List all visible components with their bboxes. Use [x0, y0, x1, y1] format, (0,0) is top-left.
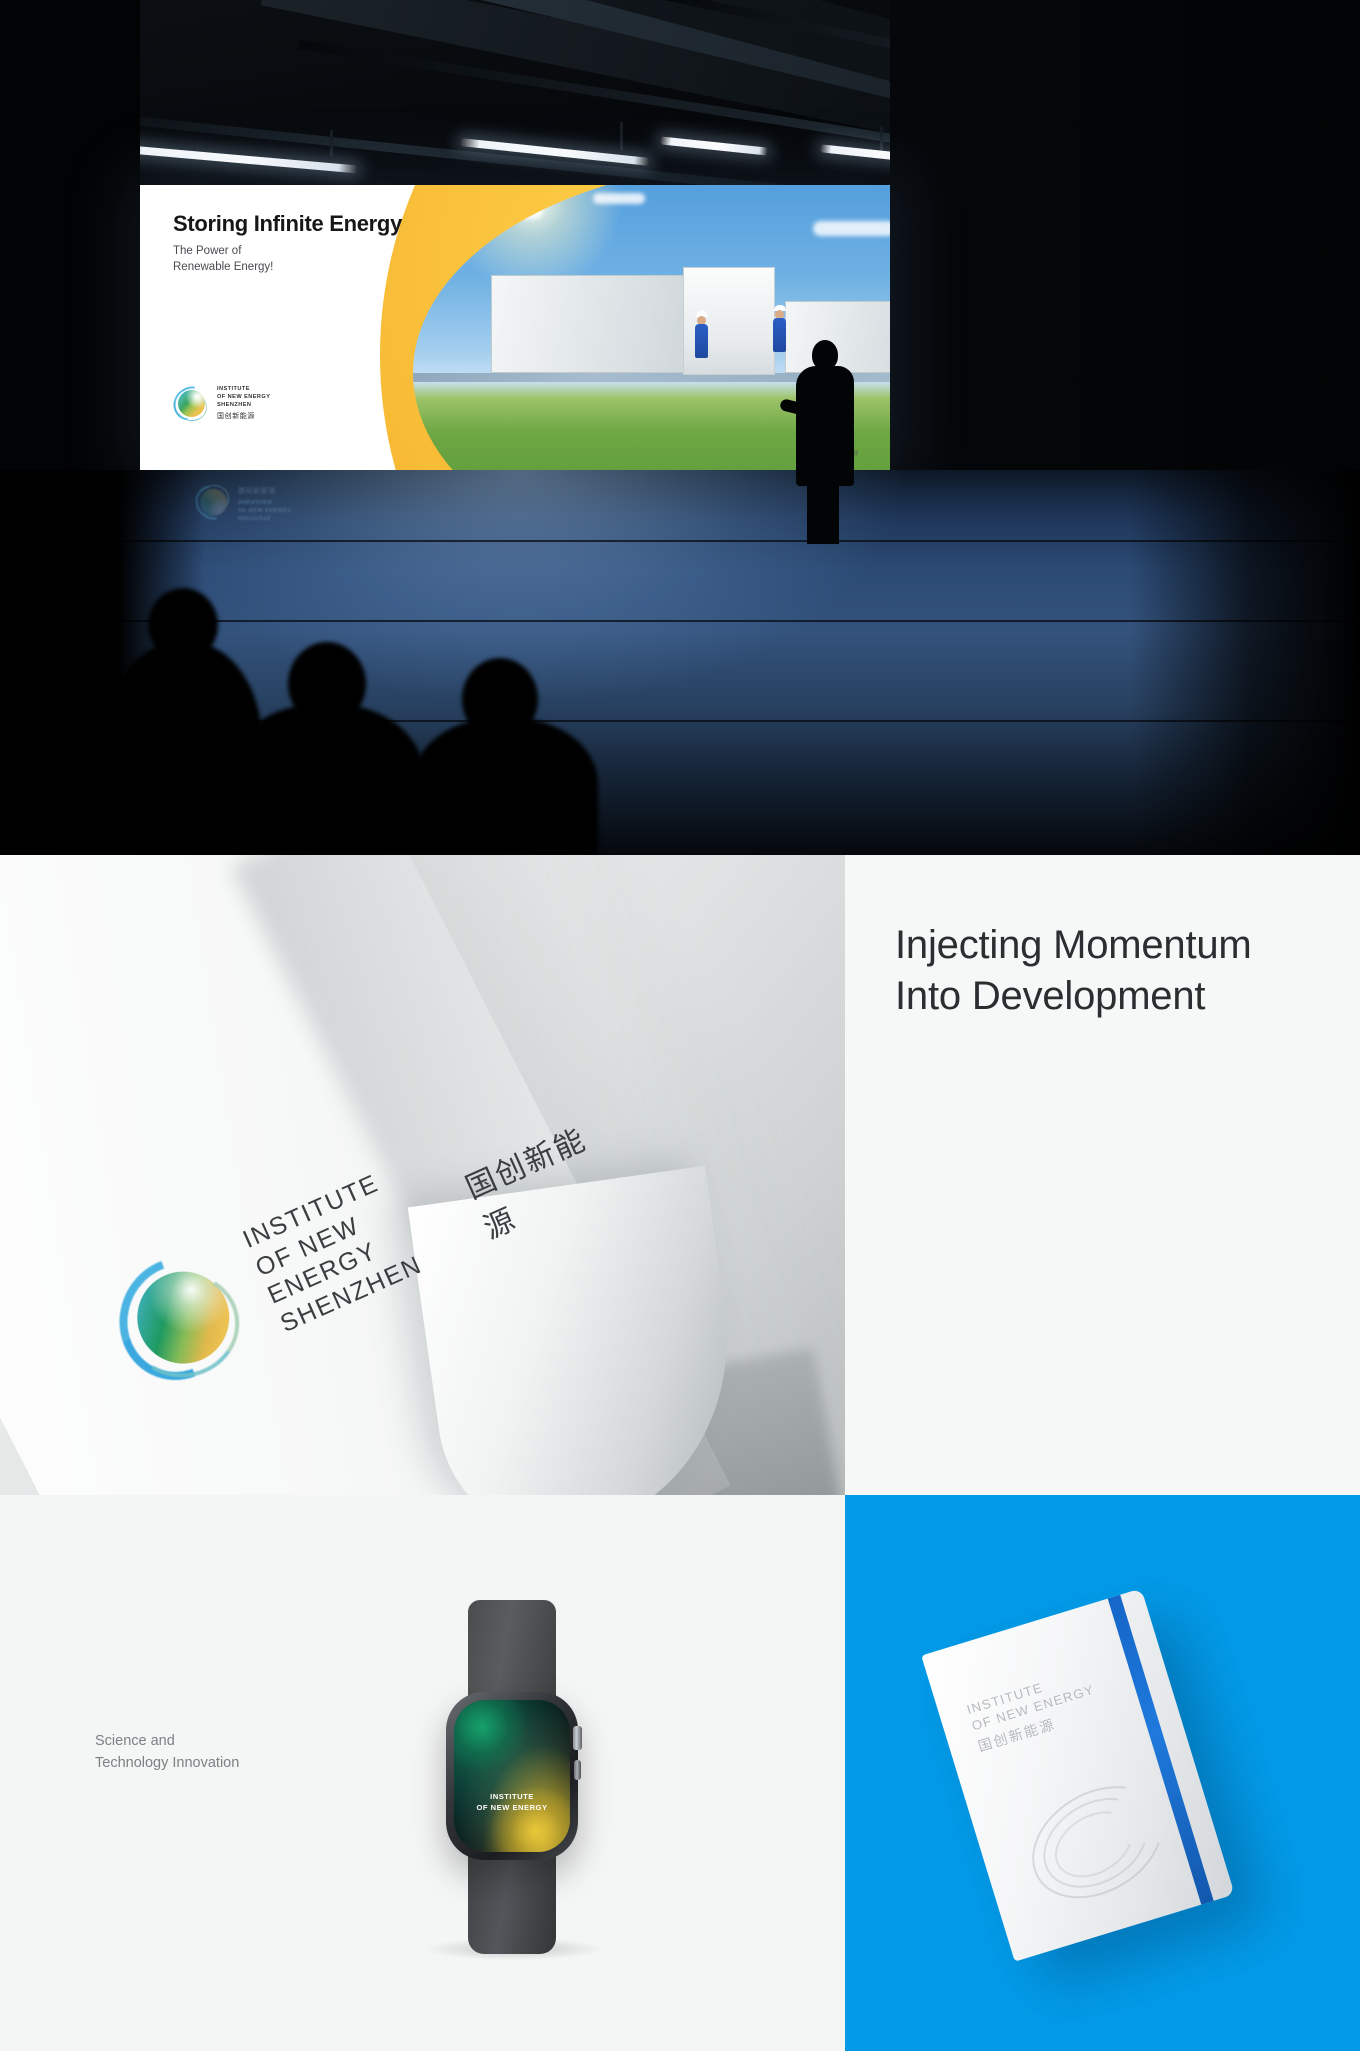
floor-right-shadow — [1130, 470, 1360, 855]
ceiling-light-icon — [118, 145, 358, 174]
audience-silhouette — [228, 704, 424, 855]
slogan-headline: Injecting Momentum Into Development — [895, 920, 1325, 1022]
led-screen-slide: Storing Infinite Energy The Power of Ren… — [140, 185, 890, 470]
lamp-stem — [880, 126, 883, 152]
cloud — [593, 193, 645, 204]
paper-logo-mockup: INSTITUTE OF NEW ENERGY SHENZHEN 国创新能源 — [0, 855, 845, 1495]
smartwatch: INSTITUTE OF NEW ENERGY — [432, 1600, 592, 1950]
notebook-mockup-panel: INSTITUTE OF NEW ENERGY 国创新能源 — [845, 1495, 1360, 2051]
notebook-emboss-wordmark: INSTITUTE OF NEW ENERGY 国创新能源 — [965, 1666, 1103, 1756]
watch-crown-icon — [573, 1726, 582, 1750]
watch-face-line2: OF NEW ENERGY — [454, 1803, 570, 1814]
watch-case: INSTITUTE OF NEW ENERGY — [446, 1692, 578, 1860]
stage-floor: INSTITUTE OF NEW ENERGY SHENZHEN 国创新能源 — [0, 470, 1360, 855]
logo-line-shenzhen: SHENZHEN — [217, 402, 270, 410]
lamp-stem — [330, 130, 333, 156]
middle-section: INSTITUTE OF NEW ENERGY SHENZHEN 国创新能源 I… — [0, 855, 1360, 1495]
reflected-logo-line2: OF NEW ENERGY — [238, 504, 291, 512]
slide-title: Storing Infinite Energy — [173, 211, 402, 237]
slide-logo: INSTITUTE OF NEW ENERGY SHENZHEN 国创新能源 — [173, 385, 270, 422]
watch-screen: INSTITUTE OF NEW ENERGY — [454, 1700, 570, 1852]
slide-subtitle: The Power of Renewable Energy! — [173, 243, 273, 276]
battery-container — [491, 275, 691, 373]
reflected-logo-line3: SHENZHEN — [238, 497, 291, 505]
logo-line-chinese: 国创新能源 — [217, 411, 270, 421]
reflected-logo-line1: INSTITUTE — [238, 512, 291, 520]
panel-caption: Science and Technology Innovation — [95, 1730, 239, 1775]
hero-stage-section: Storing Infinite Energy The Power of Ren… — [0, 0, 1360, 855]
logo-line-institute: INSTITUTE — [217, 386, 270, 394]
ceiling-light-icon — [660, 136, 768, 155]
cloud — [473, 205, 543, 219]
smartwatch-mockup-panel: Science and Technology Innovation INSTIT… — [0, 1495, 845, 2051]
watch-face-line1: INSTITUTE — [454, 1792, 570, 1803]
notebook: INSTITUTE OF NEW ENERGY 国创新能源 — [921, 1588, 1235, 1961]
stage-left-shadow — [0, 0, 140, 470]
slogan-panel: Injecting Momentum Into Development — [845, 855, 1360, 1495]
logo-line-newenergy: OF NEW ENERGY — [217, 394, 270, 402]
lamp-stem — [620, 122, 623, 150]
bottom-section: Science and Technology Innovation INSTIT… — [0, 1495, 1360, 2051]
cloud — [813, 221, 890, 236]
stage-right-shadow — [890, 0, 1360, 470]
presenter-silhouette — [790, 340, 860, 540]
watch-side-button-icon — [574, 1760, 581, 1780]
caption-line1: Science and — [95, 1730, 239, 1752]
slide-subtitle-line2: Renewable Energy! — [173, 259, 273, 275]
reflected-logo: INSTITUTE OF NEW ENERGY SHENZHEN 国创新能源 — [195, 484, 291, 521]
slide-subtitle-line1: The Power of — [173, 243, 273, 259]
watch-green-glow — [454, 1700, 528, 1770]
brand-sphere-icon — [173, 385, 210, 422]
audience-silhouette — [412, 718, 598, 855]
caption-line2: Technology Innovation — [95, 1752, 239, 1774]
watch-face-wordmark: INSTITUTE OF NEW ENERGY — [454, 1792, 570, 1814]
slide-logo-wordmark: INSTITUTE OF NEW ENERGY SHENZHEN 国创新能源 — [217, 386, 270, 420]
reflected-logo-cn: 国创新能源 — [238, 485, 291, 495]
